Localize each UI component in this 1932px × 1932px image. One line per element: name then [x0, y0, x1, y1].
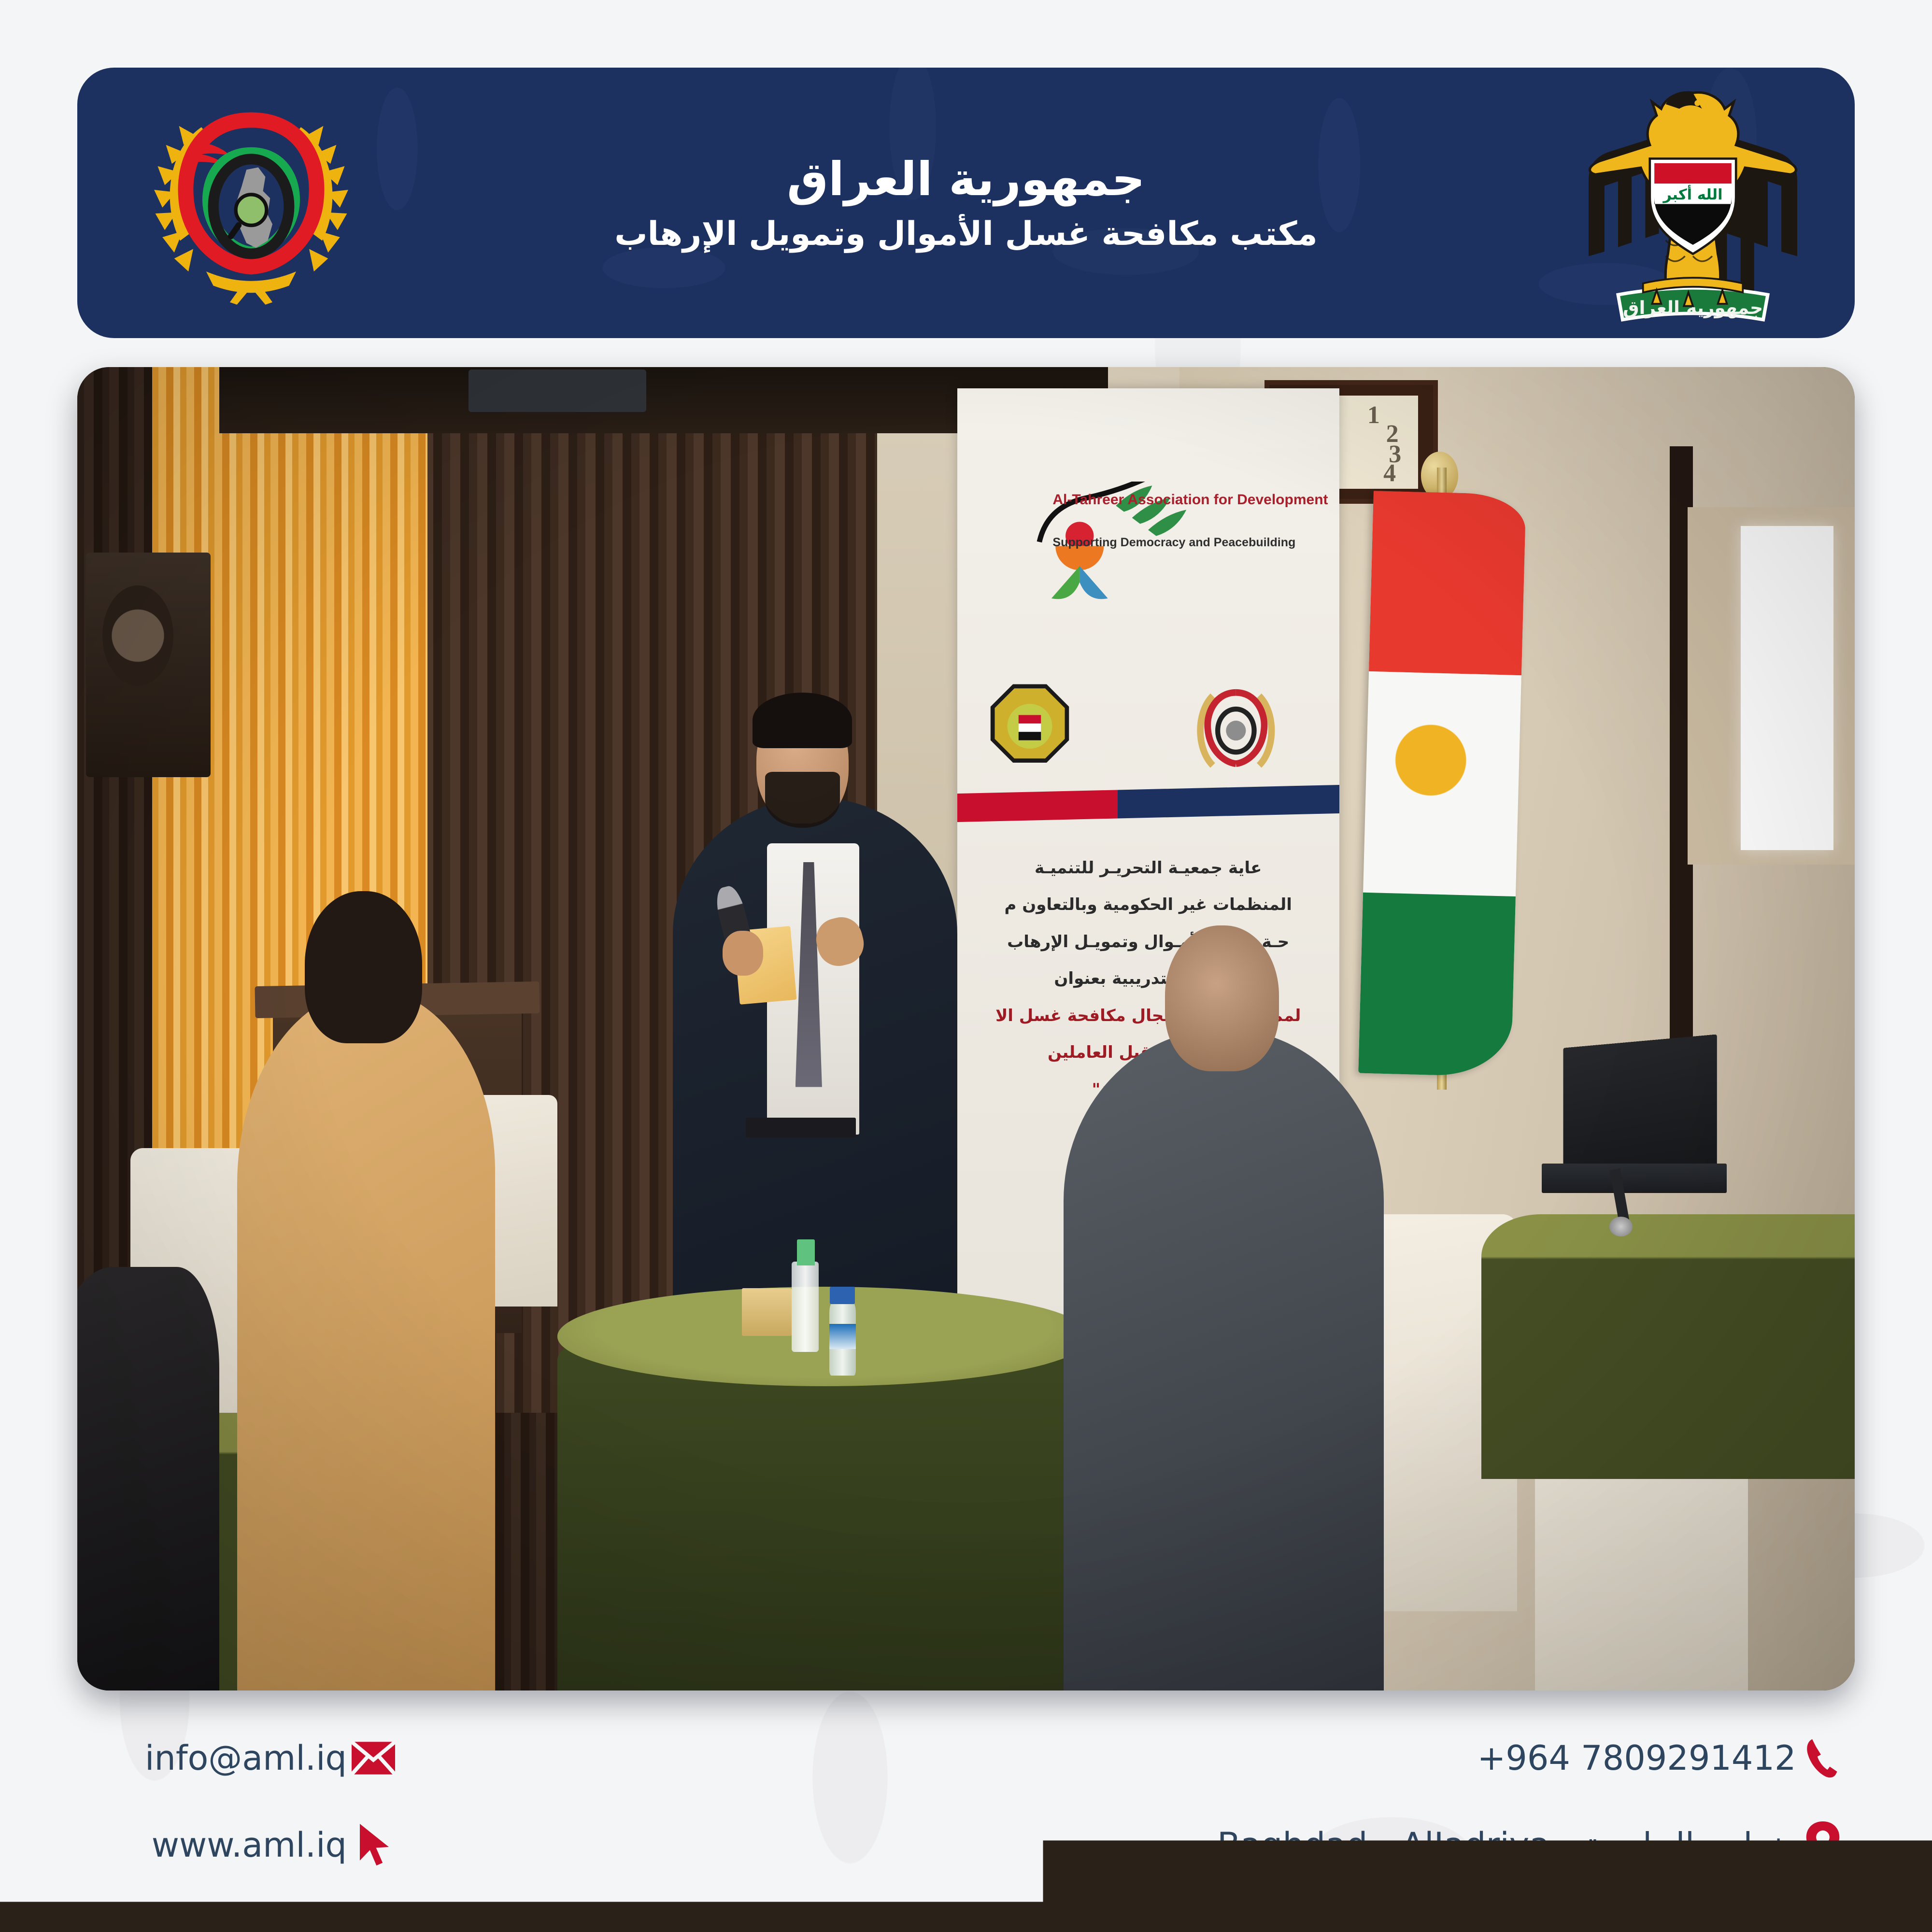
aml-office-logo-small	[1186, 652, 1286, 806]
flag-stripe-red	[1369, 491, 1526, 675]
attendee-grey-suit	[1064, 1029, 1383, 1690]
event-photo: 11 1 2 3 4 9 8	[77, 367, 1855, 1690]
footer-contact-bar: info@aml.iq www.aml.iq +964 7809291412	[0, 1705, 1932, 1932]
ngo-directorate-logo	[988, 652, 1072, 795]
laptop-screen	[1563, 1035, 1717, 1182]
hand-sanitizer-pump	[797, 1239, 815, 1266]
phone-icon	[1796, 1736, 1849, 1780]
desk-microphone-head	[1609, 1217, 1633, 1236]
attendee-foreground-left	[77, 1267, 219, 1690]
attendee-grey-suit-head	[1165, 925, 1279, 1071]
header-titles: جمهورية العراق مكتب مكافحة غسل الأموال و…	[614, 151, 1317, 255]
rollup-line-2: المنظمات غير الحكومية وبالتعاون م	[968, 886, 1328, 923]
clock-number-1: 1	[1367, 401, 1380, 429]
flag-stripe-green	[1358, 893, 1516, 1077]
pa-speaker-cone	[102, 585, 173, 686]
organization-office-title: مكتب مكافحة غسل الأموال وتمويل الإرهاب	[614, 214, 1317, 255]
rollup-org-subtitle: Supporting Democracy and Peacebuilding	[1052, 536, 1335, 550]
speaker-hand-left	[723, 931, 764, 976]
speaker-belt	[746, 1118, 856, 1137]
map-pin-icon	[1796, 1821, 1849, 1869]
water-bottle-cap	[830, 1287, 855, 1304]
footer-email-row[interactable]: info@aml.iq	[145, 1715, 400, 1802]
footer-phone-text[interactable]: +964 7809291412	[1477, 1738, 1796, 1778]
organization-country-title: جمهورية العراق	[614, 151, 1317, 208]
hand-sanitizer-bottle	[792, 1262, 818, 1351]
rollup-line-1: عاية جمعيـة التحريـر للتنميـة	[968, 850, 1328, 887]
water-bottle-label	[829, 1324, 856, 1349]
coat-banner-text: جمهورية العراق	[1623, 297, 1763, 318]
cursor-arrow-icon	[347, 1822, 400, 1868]
clock-number-4: 4	[1383, 459, 1396, 487]
speaker-hair	[753, 693, 852, 748]
rollup-org-title: Al-Tahreer Association for Development	[1052, 492, 1335, 509]
tissue-box	[742, 1288, 792, 1336]
ceiling-projector	[469, 369, 646, 412]
rollup-line-3: حـة غسل الأمـوال وتمويـل الإرهاب	[968, 923, 1328, 961]
footer-website-text[interactable]: www.aml.iq	[152, 1825, 347, 1865]
table-right-foreground	[1481, 1214, 1855, 1479]
footer-website-row[interactable]: www.aml.iq	[145, 1802, 400, 1889]
event-photo-card: 11 1 2 3 4 9 8	[77, 367, 1855, 1690]
envelope-icon	[347, 1741, 400, 1775]
projection-screen	[1741, 526, 1833, 850]
footer-address-text[interactable]: Baghdad - AlJadriya - بغداد - الجادرية	[1217, 1825, 1796, 1865]
footer-email-text[interactable]: info@aml.iq	[145, 1738, 347, 1778]
shield-takbir-text: الله أكبر	[1662, 185, 1722, 203]
attendee-tan-jacket	[237, 989, 495, 1690]
laptop-base	[1542, 1164, 1727, 1193]
attendee-tan-jacket-head	[305, 891, 422, 1043]
speaker-beard	[765, 772, 840, 827]
footer-right-column: +964 7809291412 Baghdad - AlJadriya - بغ…	[1217, 1715, 1849, 1889]
iraq-coat-of-arms: الله أكبر جمهورية العراق	[1579, 72, 1806, 333]
footer-phone-row[interactable]: +964 7809291412	[1217, 1715, 1849, 1802]
kurdistan-flag	[1358, 491, 1526, 1077]
table-top	[557, 1287, 1091, 1386]
footer-address-row[interactable]: Baghdad - AlJadriya - بغداد - الجادرية	[1217, 1802, 1849, 1889]
flag-sun-icon	[1377, 683, 1485, 838]
aml-office-emblem	[133, 85, 369, 321]
footer-left-column: info@aml.iq www.aml.iq	[145, 1715, 400, 1889]
